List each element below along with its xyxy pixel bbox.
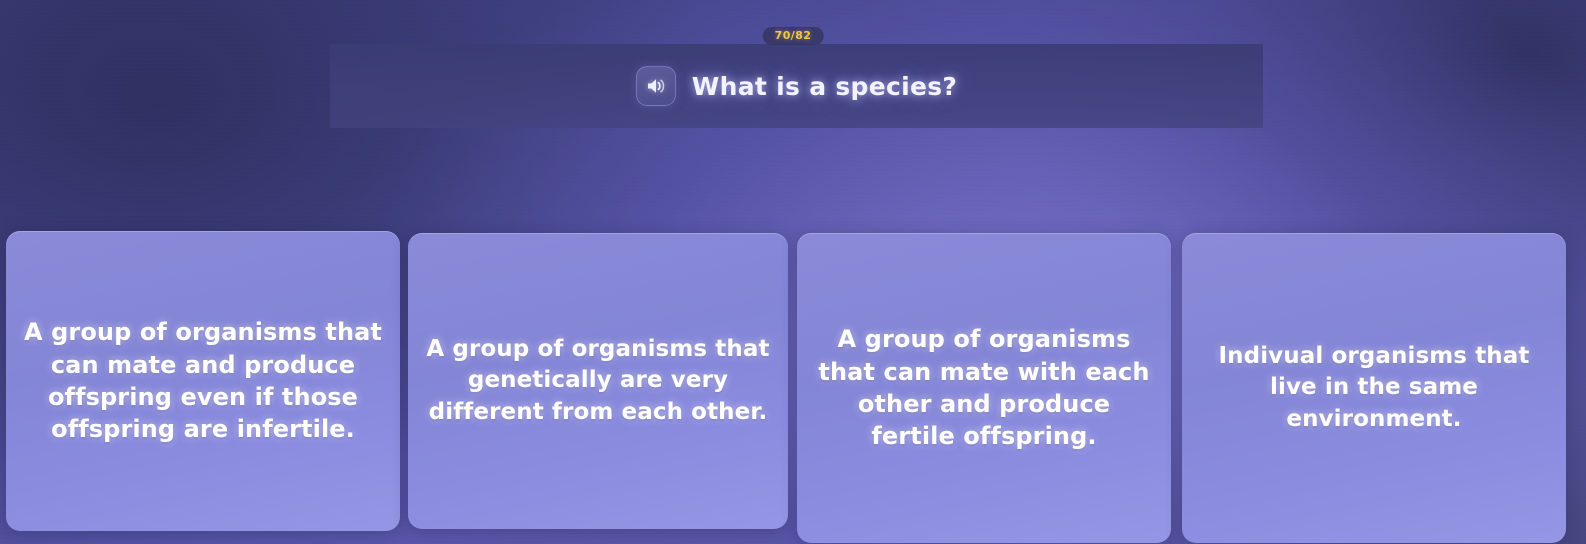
answer-option-c[interactable]: A group of organisms that can mate with … — [797, 233, 1171, 543]
speaker-icon[interactable] — [636, 66, 676, 106]
answer-option-d[interactable]: Indivual organisms that live in the same… — [1182, 233, 1566, 543]
progress-counter-badge: 70/82 — [763, 27, 824, 45]
answer-option-d-label: Indivual organisms that live in the same… — [1198, 341, 1550, 434]
answer-option-c-label: A group of organisms that can mate with … — [813, 323, 1155, 453]
question-text: What is a species? — [692, 72, 957, 101]
answer-option-a-label: A group of organisms that can mate and p… — [22, 316, 384, 446]
answer-option-b[interactable]: A group of organisms that genetically ar… — [408, 233, 788, 529]
answer-option-b-label: A group of organisms that genetically ar… — [424, 334, 772, 427]
question-panel: What is a species? — [330, 44, 1263, 128]
answer-option-a[interactable]: A group of organisms that can mate and p… — [6, 231, 400, 531]
